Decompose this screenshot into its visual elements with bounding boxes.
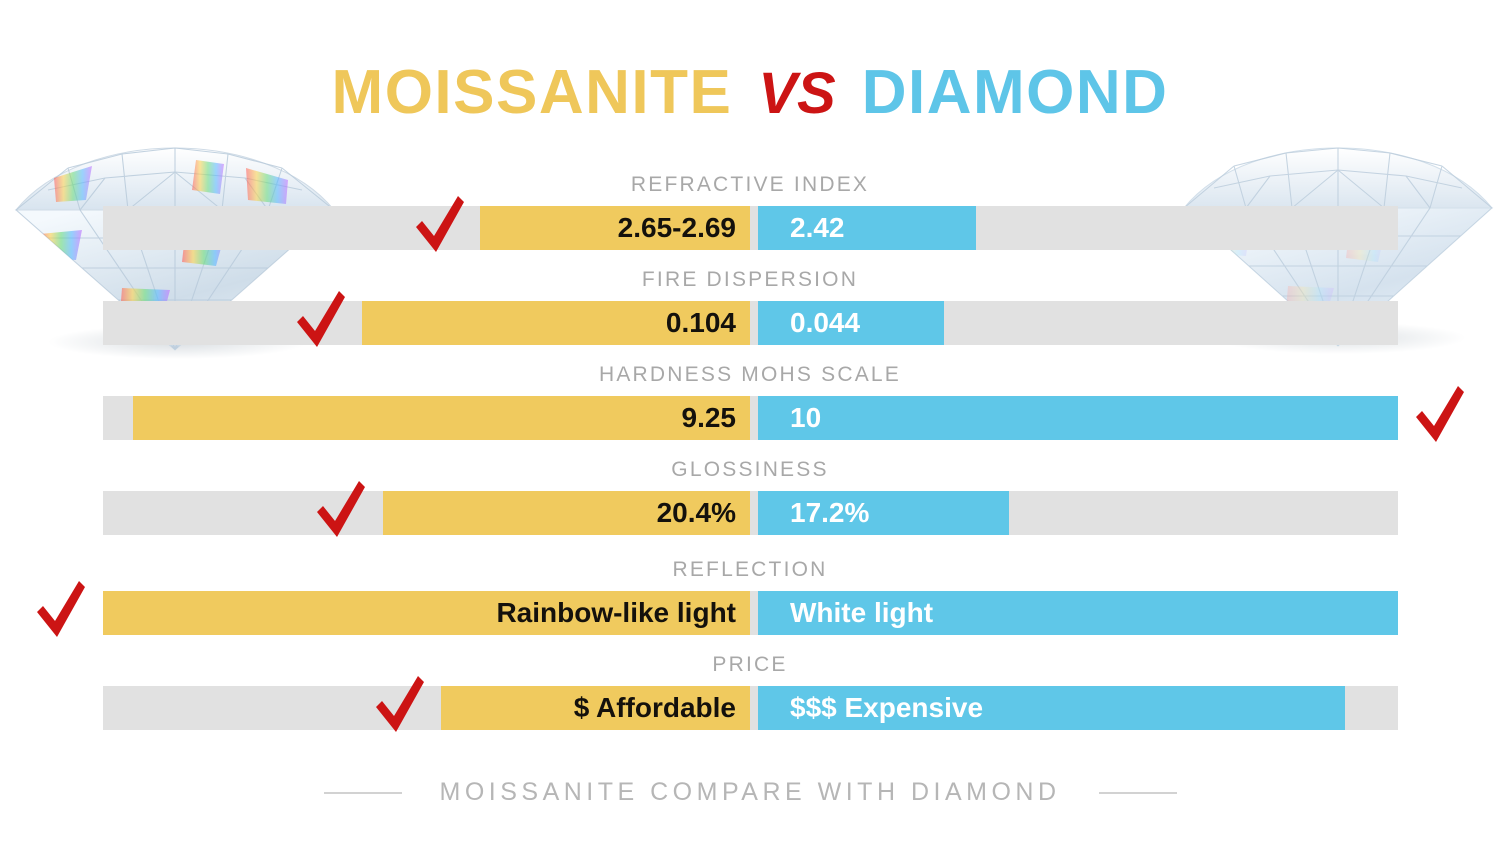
row-track — [103, 491, 1398, 535]
value-diamond: 2.42 — [790, 206, 990, 250]
title-moissanite: MOISSANITE — [332, 62, 733, 124]
comparison-row: GLOSSINESS 20.4% 17.2% — [0, 455, 1500, 550]
infographic-canvas: MOISSANITEVSDIAMOND — [0, 0, 1500, 850]
row-track — [103, 206, 1398, 250]
value-moissanite: $ Affordable — [441, 686, 736, 730]
row-label-hardness-mohs-scale: HARDNESS MOHS SCALE — [0, 360, 1500, 390]
footer-text: MOISSANITE COMPARE WITH DIAMOND — [440, 778, 1061, 807]
title-vs: VS — [758, 65, 835, 123]
value-diamond: 17.2% — [790, 491, 1010, 535]
row-label-price: PRICE — [0, 650, 1500, 680]
value-diamond: 10 — [790, 396, 1090, 440]
winner-check-icon — [33, 579, 89, 641]
row-label-reflection: REFLECTION — [0, 555, 1500, 585]
value-diamond: White light — [790, 591, 1210, 635]
value-moissanite: Rainbow-like light — [103, 591, 736, 635]
value-diamond: 0.044 — [790, 301, 990, 345]
value-moissanite: 2.65-2.69 — [480, 206, 736, 250]
value-moissanite: 0.104 — [362, 301, 736, 345]
comparison-row: REFRACTIVE INDEX 2.65-2.69 2.42 — [0, 170, 1500, 265]
value-diamond: $$$ Expensive — [790, 686, 1220, 730]
comparison-row: FIRE DISPERSION 0.104 0.044 — [0, 265, 1500, 360]
winner-check-icon — [372, 674, 428, 736]
value-moissanite: 20.4% — [383, 491, 736, 535]
value-moissanite: 9.25 — [133, 396, 736, 440]
winner-check-icon — [412, 194, 468, 256]
winner-check-icon — [1412, 384, 1468, 446]
page-title: MOISSANITEVSDIAMOND — [0, 62, 1500, 124]
comparison-row: HARDNESS MOHS SCALE 9.25 10 — [0, 360, 1500, 455]
comparison-row: REFLECTION Rainbow-like light White ligh… — [0, 555, 1500, 650]
footer-rule-right — [1099, 792, 1177, 794]
winner-check-icon — [293, 289, 349, 351]
winner-check-icon — [313, 479, 369, 541]
title-diamond: DIAMOND — [862, 62, 1169, 124]
row-label-glossiness: GLOSSINESS — [0, 455, 1500, 485]
comparison-row: PRICE $ Affordable $$$ Expensive — [0, 650, 1500, 745]
row-label-refractive-index: REFRACTIVE INDEX — [0, 170, 1500, 200]
footer-caption: MOISSANITE COMPARE WITH DIAMOND — [0, 778, 1500, 807]
row-label-fire-dispersion: FIRE DISPERSION — [0, 265, 1500, 295]
footer-rule-left — [324, 792, 402, 794]
